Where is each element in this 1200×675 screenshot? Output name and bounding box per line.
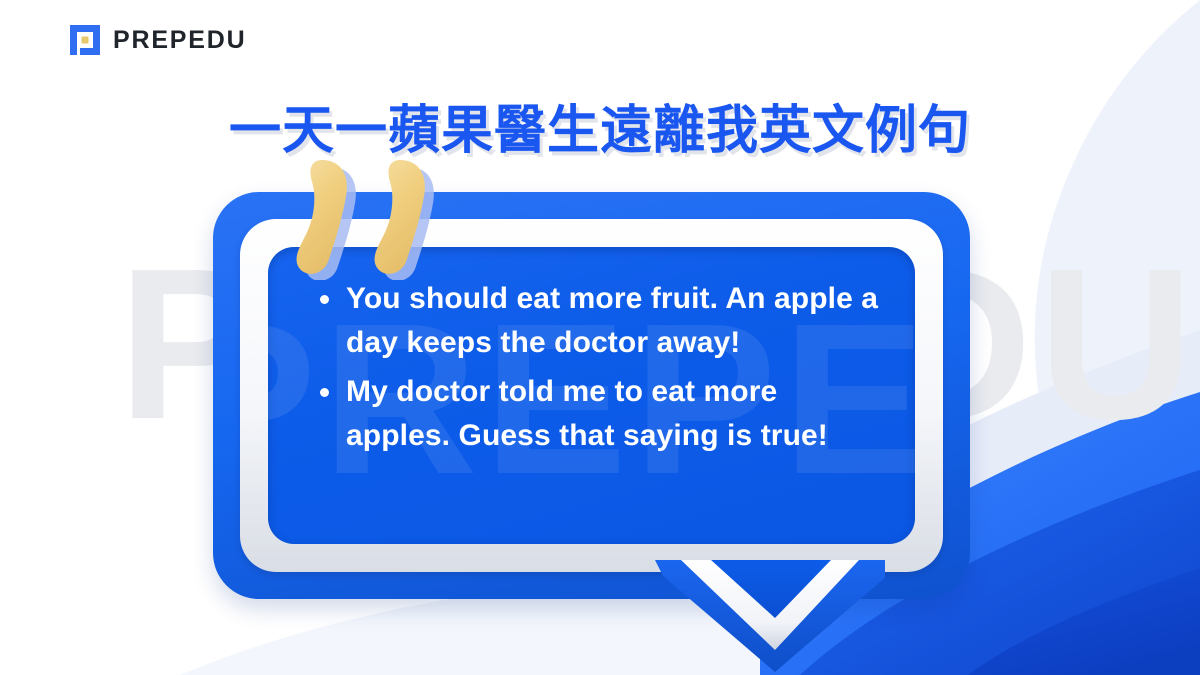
bubble-tail xyxy=(655,560,885,672)
slide-canvas: PREPEDU PREPEDU 一天一蘋果醫生遠離我英文例句 PREPEDU Y… xyxy=(0,0,1200,675)
double-quote-icon xyxy=(292,158,472,280)
bubble-inner-panel: PREPEDU You should eat more fruit. An ap… xyxy=(268,247,915,544)
prepedu-bracket-icon xyxy=(68,23,102,57)
page-title: 一天一蘋果醫生遠離我英文例句 xyxy=(0,88,1200,163)
example-sentence-list: You should eat more fruit. An apple a da… xyxy=(316,277,887,463)
quote-glyph xyxy=(297,160,425,274)
bg-curve-blue-deepest xyxy=(968,568,1200,675)
brand-logo-text: PREPEDU xyxy=(113,28,246,53)
list-item: My doctor told me to eat more apples. Gu… xyxy=(316,370,887,459)
list-item: You should eat more fruit. An apple a da… xyxy=(316,277,887,366)
brand-logo: PREPEDU xyxy=(68,23,246,57)
